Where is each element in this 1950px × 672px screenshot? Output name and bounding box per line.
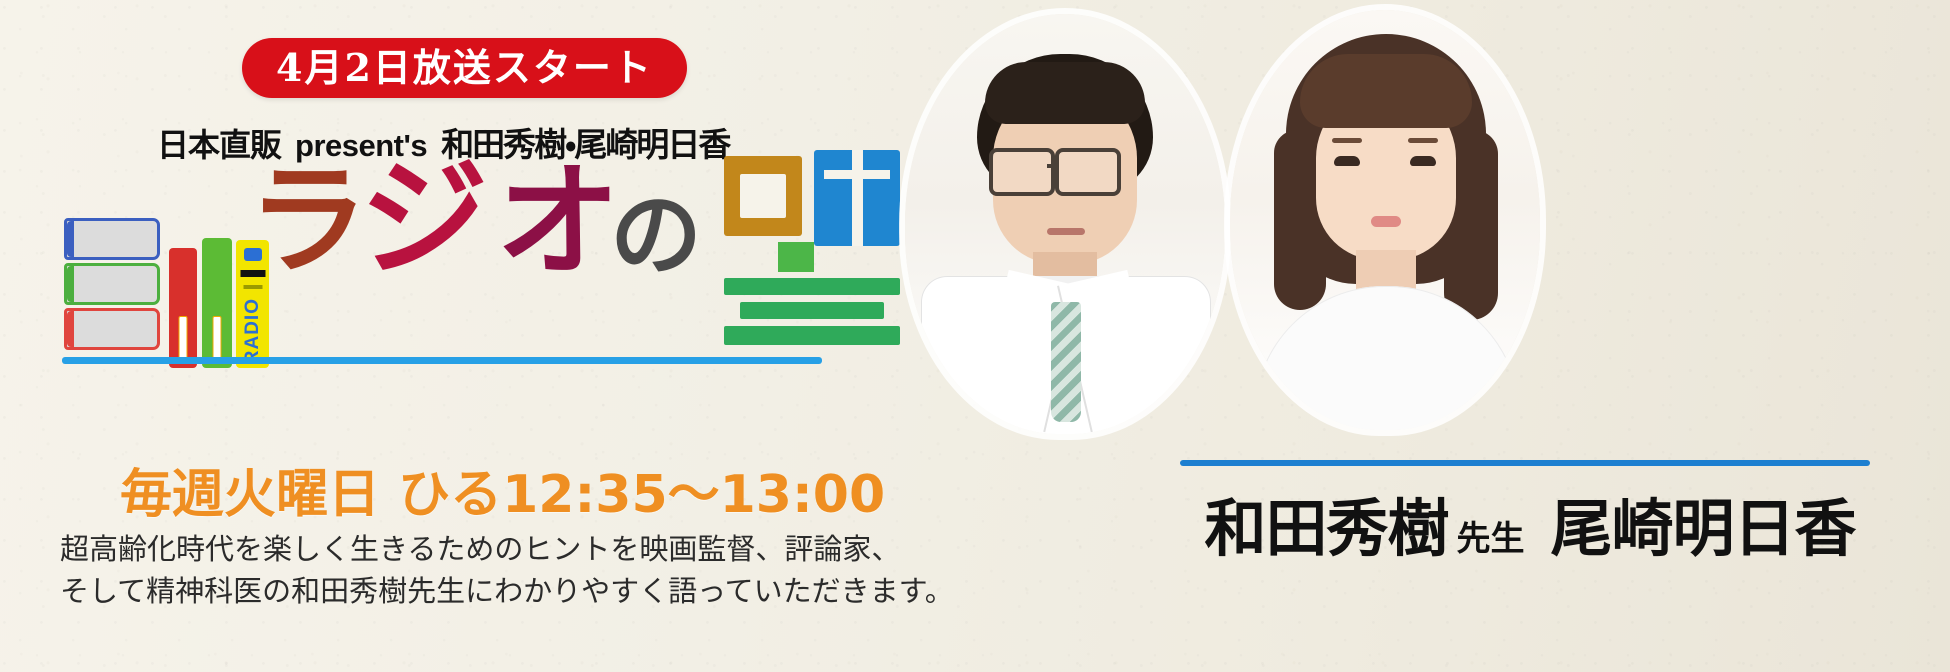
kabe-top-right-block — [814, 150, 900, 246]
logo-char-no: の — [610, 190, 702, 282]
name-divider-rule — [1180, 460, 1870, 466]
glasses-right-lens-icon — [1055, 148, 1121, 196]
description-line-1: 超高齢化時代を楽しく生きるためのヒントを映画監督、評論家、 — [60, 528, 890, 570]
book-blue-icon — [64, 218, 160, 260]
glasses-bridge-icon — [1047, 164, 1059, 168]
name-wada-hideki: 和田秀樹 — [1204, 478, 1448, 568]
description-line-2: そして精神科医の和田秀樹先生にわかりやすく語っていただきます。 — [60, 570, 890, 612]
portrait-wada-hideki — [905, 14, 1225, 434]
woman-neck — [1356, 250, 1416, 290]
logo-char-o: オ — [496, 160, 620, 284]
striped-necktie — [1051, 302, 1081, 422]
logo-wordmark: ラ ジ オ の !! — [248, 154, 898, 364]
logo-char-ra: ラ — [248, 162, 368, 282]
kabe-green-bar-2 — [740, 302, 884, 319]
kabe-top-left-block — [724, 156, 802, 236]
book-spine-red-icon — [169, 248, 197, 368]
program-description: 超高齢化時代を楽しく生きるためのヒントを映画監督、評論家、 そして精神科医の和田… — [60, 528, 890, 612]
broadcast-start-badge: 4月2日放送スタート — [242, 38, 687, 98]
woman-fringe — [1300, 54, 1472, 128]
kabe-green-block-1 — [778, 242, 814, 272]
kabe-green-bar-1 — [724, 278, 900, 295]
man-mouth — [1047, 228, 1085, 235]
broadcast-schedule: 毎週火曜日 ひる12:35〜13:00 — [120, 452, 885, 527]
logo-char-ji: ジ — [360, 156, 488, 284]
man-fringe — [985, 62, 1145, 124]
host-names-plate: 和田秀樹 先生 尾崎明日香 — [1150, 478, 1910, 568]
program-logo: RADIO ラ ジ オ の !! — [52, 160, 892, 390]
book-spine-green-icon — [202, 238, 232, 368]
book-red-icon — [64, 308, 160, 350]
portrait-ozaki-asuka — [1230, 10, 1540, 430]
kabe-green-bar-3 — [724, 326, 900, 345]
broadcast-start-text: 4月2日放送スタート — [276, 49, 653, 87]
radio-program-banner: 4月2日放送スタート 日本直販 present's 和田秀樹・尾崎明日香 RAD… — [0, 0, 1950, 672]
woman-eyebrow-left — [1332, 138, 1362, 143]
woman-lips — [1371, 216, 1401, 227]
name-honorific-sensei: 先生 — [1457, 511, 1525, 560]
woman-eye-right — [1410, 156, 1436, 166]
book-green-icon — [64, 263, 160, 305]
glasses-left-lens-icon — [989, 148, 1055, 196]
woman-eyebrow-right — [1408, 138, 1438, 143]
stacked-books-icon — [64, 218, 160, 353]
banner-left-column: 4月2日放送スタート 日本直販 present's 和田秀樹・尾崎明日香 RAD… — [0, 0, 950, 672]
logo-char-kabe — [718, 150, 908, 355]
name-ozaki-asuka: 尾崎明日香 — [1551, 478, 1856, 568]
banner-right-column: ご案内役 — [950, 0, 1950, 672]
woman-eye-left — [1334, 156, 1360, 166]
